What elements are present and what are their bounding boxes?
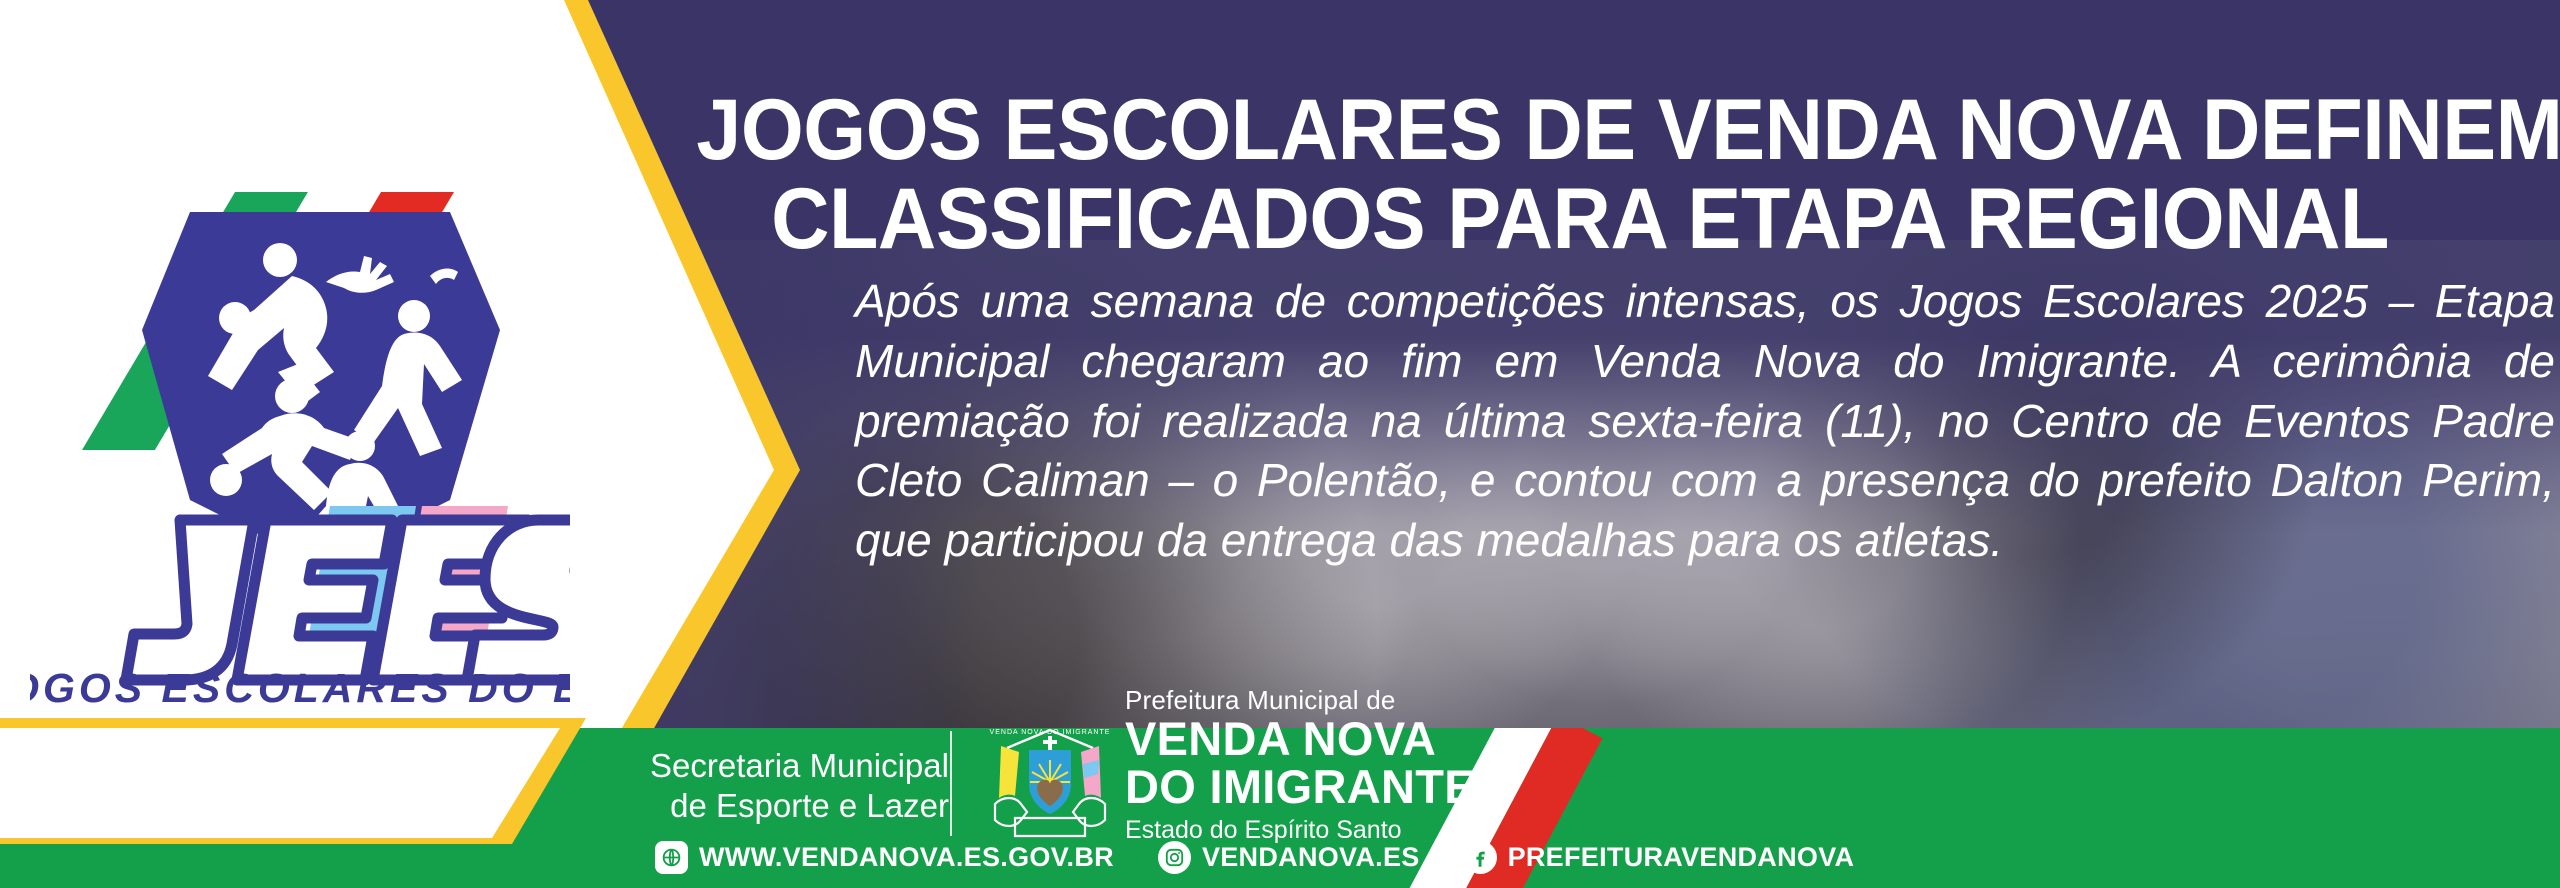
logo-tagline-1: JOGOS ESCOLARES DO ES [30,665,570,711]
secretaria-line-2: de Esporte e Lazer [650,786,949,826]
headline: JOGOS ESCOLARES DE VENDA NOVA DEFINEM CL… [696,86,2463,265]
social-links: WWW.VENDANOVA.ES.GOV.BR VENDANOVA.ES PRE… [655,841,1854,874]
news-banner: JOGOS ESCOLARES DO ES VENDA NOVA DO IMIG… [0,0,2560,888]
prefeitura-name-line-2: DO IMIGRANTE [1125,763,1476,811]
prefeitura-name-line-1: VENDA NOVA [1125,715,1476,763]
prefeitura-eyebrow: Prefeitura Municipal de [1125,687,1476,714]
jees-logo: JOGOS ESCOLARES DO ES VENDA NOVA DO IMIG… [30,150,570,750]
prefeitura-lockup: Prefeitura Municipal de VENDA NOVA DO IM… [1125,687,1476,846]
lede-paragraph: Após uma semana de competições intensas,… [855,272,2555,571]
headline-line-1: JOGOS ESCOLARES DE VENDA NOVA DEFINEM [696,86,2463,175]
social-facebook[interactable]: PREFEITURAVENDANOVA [1464,841,1855,874]
facebook-icon [1464,841,1497,874]
footer-divider [950,731,952,836]
social-instagram-label: VENDANOVA.ES [1202,842,1420,873]
secretaria-label: Secretaria Municipal de Esporte e Lazer [650,746,949,827]
headline-line-2: CLASSIFICADOS PARA ETAPA REGIONAL [696,175,2463,264]
coat-of-arms: VENDA NOVA DO IMIGRANTE [985,722,1115,850]
instagram-icon [1158,841,1191,874]
social-website[interactable]: WWW.VENDANOVA.ES.GOV.BR [655,841,1114,874]
secretaria-line-1: Secretaria Municipal [650,746,949,786]
globe-icon [655,841,688,874]
social-facebook-label: PREFEITURAVENDANOVA [1508,842,1855,873]
coat-motto: VENDA NOVA DO IMIGRANTE [990,729,1111,736]
logo-wordmark [126,506,570,680]
social-website-label: WWW.VENDANOVA.ES.GOV.BR [699,842,1114,873]
lede-text: Após uma semana de competições intensas,… [855,272,2555,571]
social-instagram[interactable]: VENDANOVA.ES [1158,841,1420,874]
